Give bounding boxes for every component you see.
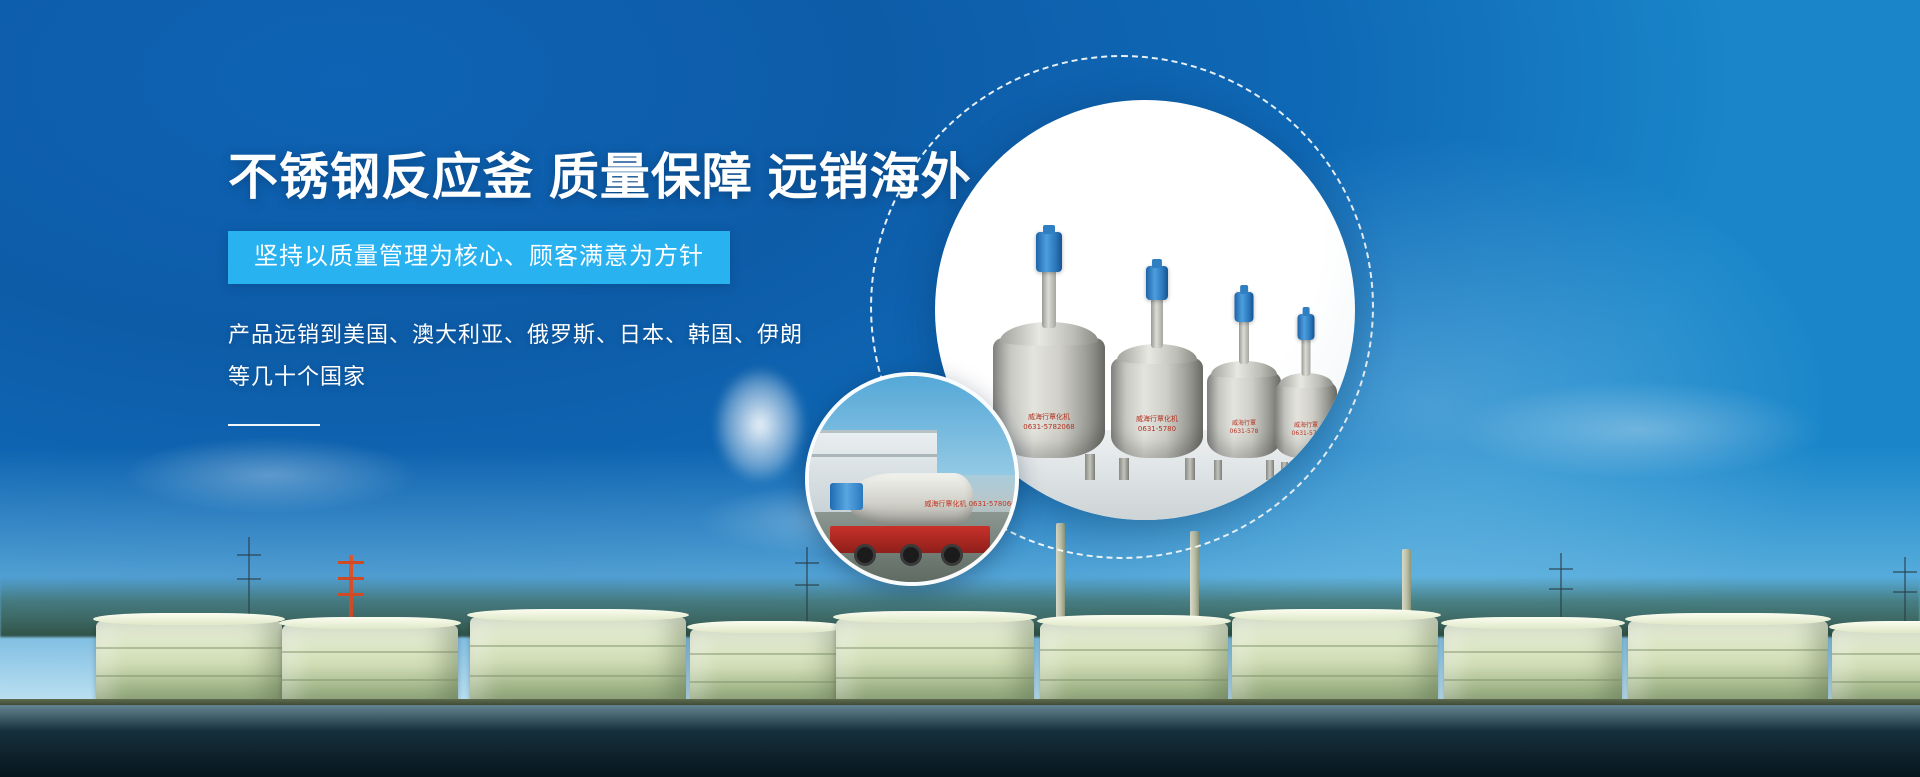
storage-tank-5 (836, 619, 1034, 709)
water (0, 705, 1920, 777)
inset-wheel-2 (900, 544, 922, 566)
vessel-label-2: 威海行覃化机 0631-5780 (1136, 415, 1178, 434)
inset-wheel-3 (941, 544, 963, 566)
storage-tank-10 (1832, 629, 1920, 709)
reactor-vessel-3: 威海行覃 0631-578 (1207, 342, 1281, 458)
vessel-label-1: 威海行覃化机 0631-5782068 (1023, 413, 1075, 432)
storage-tank-7 (1232, 617, 1438, 709)
subtitle-bar: 坚持以质量管理为核心、顾客满意为方针 (228, 231, 730, 284)
storage-tank-3 (470, 617, 686, 709)
divider-rule (228, 424, 320, 426)
storage-tank-9 (1628, 621, 1828, 709)
inset-photo-label: 威海行覃化机 0631-5780602 (924, 500, 1019, 509)
reactor-vessel-4: 威海行覃 0631-578 (1275, 354, 1337, 458)
storage-tank-1 (96, 621, 282, 709)
reactor-vessel-2: 威海行覃化机 0631-5780 (1111, 326, 1203, 458)
storage-tank-4 (690, 629, 842, 709)
storage-tank-6 (1040, 623, 1228, 709)
inset-wheel-1 (854, 544, 876, 566)
vessel-label-3: 威海行覃 0631-578 (1230, 420, 1259, 436)
page-title: 不锈钢反应釜 质量保障 远销海外 (228, 150, 988, 205)
storage-tank-2 (282, 625, 458, 709)
vessel-label-4: 威海行覃 0631-578 (1292, 422, 1321, 438)
hero-banner: 不锈钢反应釜 质量保障 远销海外 坚持以质量管理为核心、顾客满意为方针 产品远销… (0, 0, 1920, 777)
factory-photo-circle: 威海行覃化机 0631-5780602 (805, 372, 1019, 586)
inset-motor (830, 483, 863, 510)
storage-tank-8 (1444, 625, 1622, 709)
